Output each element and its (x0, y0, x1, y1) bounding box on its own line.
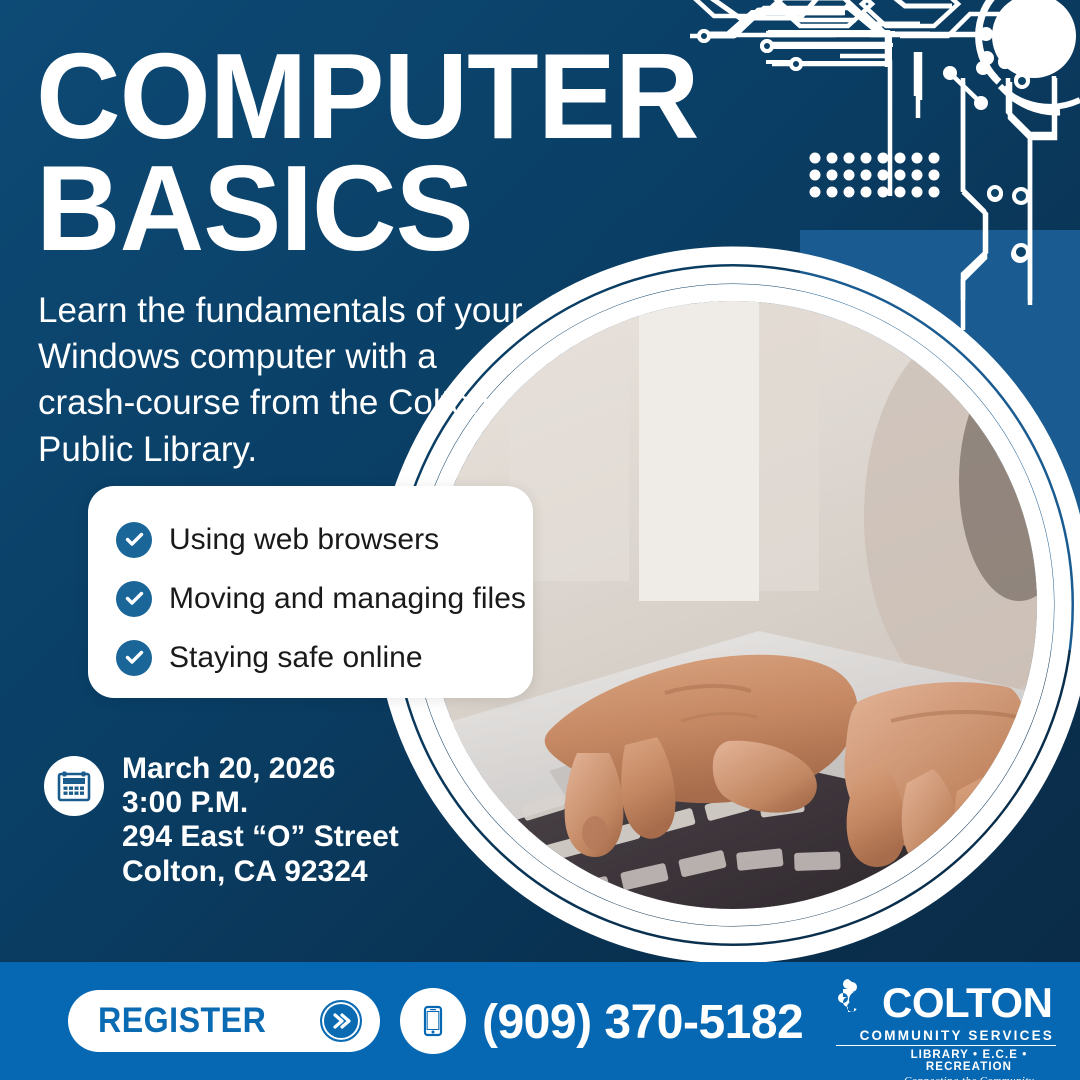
phone-number[interactable]: (909) 370-5182 (482, 995, 803, 1050)
event-details: March 20, 2026 3:00 P.M. 294 East “O” St… (44, 752, 399, 889)
list-item-label: Using web browsers (169, 525, 439, 555)
register-button[interactable]: REGISTER (68, 990, 380, 1052)
logo-departments: LIBRARY • E.C.E • RECREATION (836, 1049, 1056, 1073)
register-button-label: REGISTER (98, 1001, 302, 1041)
list-item-label: Staying safe online (169, 643, 423, 673)
check-icon (116, 640, 152, 676)
event-address-line1: 294 East “O” Street (122, 820, 399, 854)
colton-community-services-logo: COLTON COMMUNITY SERVICES LIBRARY • E.C.… (836, 978, 1056, 1070)
features-card: Using web browsers Moving and managing f… (88, 486, 533, 698)
list-item: Moving and managing files (116, 569, 533, 628)
list-item-label: Moving and managing files (169, 584, 526, 614)
logo-subtitle: COMMUNITY SERVICES (836, 1028, 1056, 1046)
event-time: 3:00 P.M. (122, 786, 399, 820)
puzzle-piece-icon (836, 978, 880, 1027)
subtitle-text: Learn the fundamentals of your Windows c… (38, 288, 538, 473)
check-icon (116, 581, 152, 617)
dot-grid (810, 153, 940, 198)
list-item: Using web browsers (116, 510, 533, 569)
event-address-line2: Colton, CA 92324 (122, 855, 399, 889)
logo-wordmark: COLTON (882, 982, 1052, 1024)
title-line-2: BASICS (36, 152, 727, 264)
list-item: Staying safe online (116, 628, 533, 687)
logo-tagline: Connecting the Community (836, 1075, 1056, 1080)
check-icon (116, 522, 152, 558)
page-title: COMPUTER BASICS (36, 40, 727, 264)
double-chevron-right-icon (320, 1000, 362, 1042)
calendar-icon (44, 756, 104, 816)
poster-canvas: COMPUTER BASICS Learn the fundamentals o… (0, 0, 1080, 1080)
mobile-phone-icon (400, 988, 466, 1054)
event-date: March 20, 2026 (122, 752, 399, 786)
